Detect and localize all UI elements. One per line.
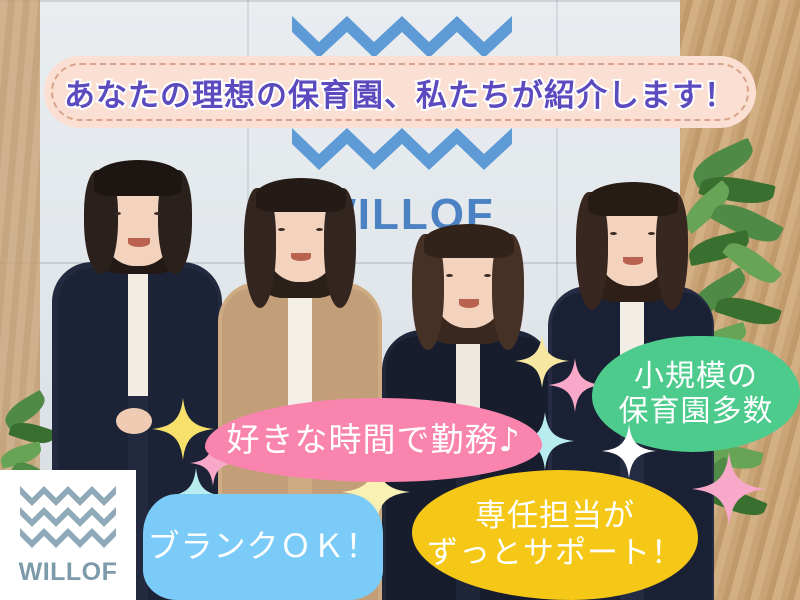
bubble-small-nurseries-line-1: 小規模の [619,359,774,394]
sparkle-pink-right [692,452,766,531]
headline-text: あなたの理想の保育園、私たちが紹介します！ [64,70,736,115]
brand-logo-card[interactable]: WILLOF [0,470,136,600]
logo-waves [20,484,116,553]
headline-banner: あなたの理想の保育園、私たちが紹介します！ [44,56,756,128]
sparkle-white-on-yellow [602,424,656,483]
logo-wordmark: WILLOF [19,558,118,587]
bubble-dedicated-support-line-2: ずっとサポート！ [427,535,683,572]
bubble-blank-ok-line-1: ブランクＯＫ！ [147,528,378,566]
bubble-blank-ok[interactable]: ブランクＯＫ！ [143,494,383,600]
bubble-dedicated-support-line-1: 専任担当が [427,498,683,535]
wall-logo-chevron-row [292,14,512,60]
bubble-flexible-hours-line-1: 好きな時間で勤務♪ [226,421,520,460]
advertisement-banner: WILLOF [0,0,800,600]
